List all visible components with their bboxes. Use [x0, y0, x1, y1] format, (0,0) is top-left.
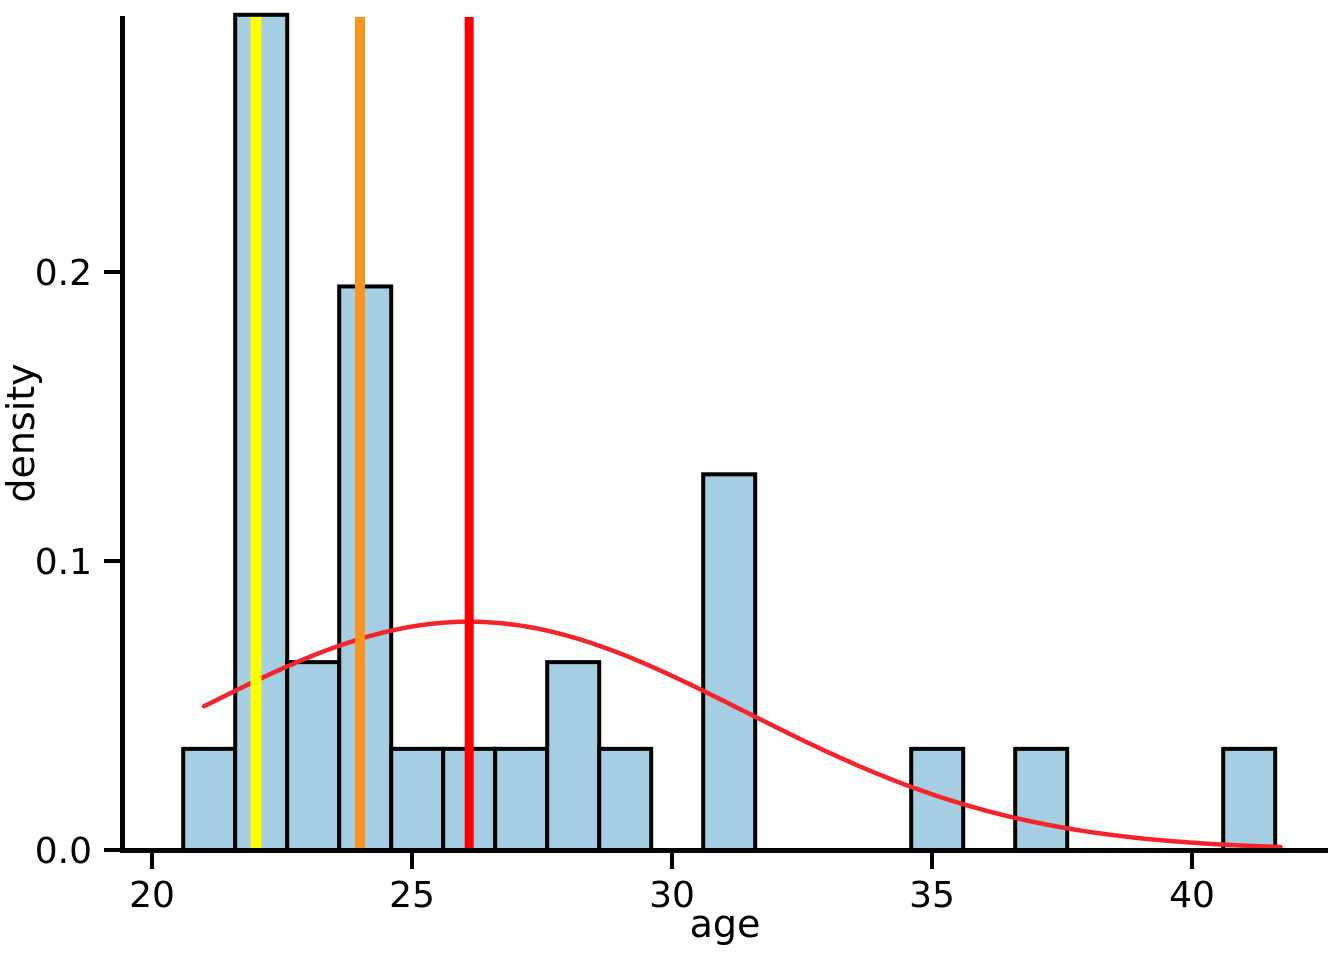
x-axis-tick-label: 40 [1169, 875, 1215, 916]
histogram-bar [391, 749, 443, 850]
histogram-bar [183, 749, 235, 850]
x-axis-tick-label: 25 [389, 875, 435, 916]
histogram-bar [339, 286, 391, 850]
y-axis-tick-label: 0.0 [35, 831, 92, 872]
x-axis-tick-label: 30 [649, 875, 695, 916]
chart-figure: 2025303540 0.00.10.2 age density [0, 0, 1344, 960]
y-axis-tick-label: 0.2 [35, 253, 92, 294]
y-axis-title: density [0, 363, 43, 502]
histogram-bar [911, 749, 963, 850]
y-axis-tick-label: 0.1 [35, 542, 92, 583]
x-axis-title: age [690, 902, 761, 946]
chart-canvas: 2025303540 0.00.10.2 age density [0, 0, 1344, 960]
histogram-bar [547, 662, 599, 850]
histogram-bar [1223, 749, 1275, 850]
histogram-bar [495, 749, 547, 850]
histogram-bar [287, 662, 339, 850]
x-axis-tick-label: 20 [129, 875, 175, 916]
x-axis-tick-label: 35 [909, 875, 955, 916]
histogram-bar [1015, 749, 1067, 850]
histogram-bar [703, 474, 755, 850]
histogram-bar [599, 749, 651, 850]
